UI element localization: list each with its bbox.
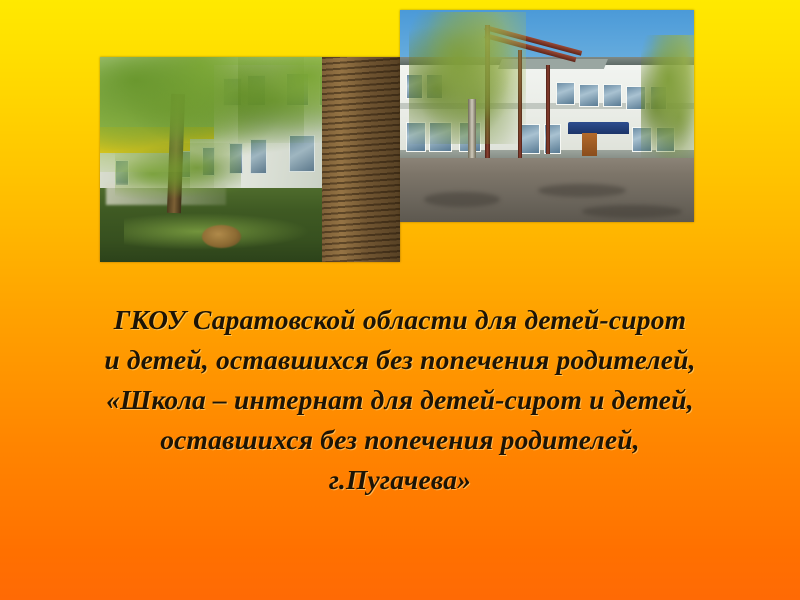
photo-school-facade bbox=[400, 10, 694, 222]
caption-line-3: «Школа – интернат для детей-сирот и дете… bbox=[40, 380, 760, 420]
photo-left-content bbox=[100, 57, 400, 262]
window bbox=[556, 82, 576, 105]
photo-school-courtyard bbox=[100, 57, 400, 262]
caption-line-5: г.Пугачева» bbox=[40, 460, 760, 500]
window bbox=[579, 84, 599, 107]
entrance-awning bbox=[568, 122, 630, 134]
window bbox=[603, 84, 623, 107]
ground-patch bbox=[582, 205, 682, 218]
caption-line-1: ГКОУ Саратовской области для детей-сирот bbox=[40, 300, 760, 340]
tree-stump bbox=[202, 225, 241, 248]
presentation-slide: ГКОУ Саратовской области для детей-сирот… bbox=[0, 0, 800, 600]
canopy-post bbox=[546, 65, 551, 154]
tree-trunk-foreground bbox=[322, 57, 400, 262]
slide-caption: ГКОУ Саратовской области для детей-сирот… bbox=[40, 300, 760, 500]
tree-right bbox=[641, 35, 694, 158]
entrance-door bbox=[582, 133, 597, 156]
caption-line-4: оставшихся без попечения родителей, bbox=[40, 420, 760, 460]
photo-right-content bbox=[400, 10, 694, 222]
caption-line-2: и детей, оставшихся без попечения родите… bbox=[40, 340, 760, 380]
ground-patch bbox=[538, 184, 626, 197]
